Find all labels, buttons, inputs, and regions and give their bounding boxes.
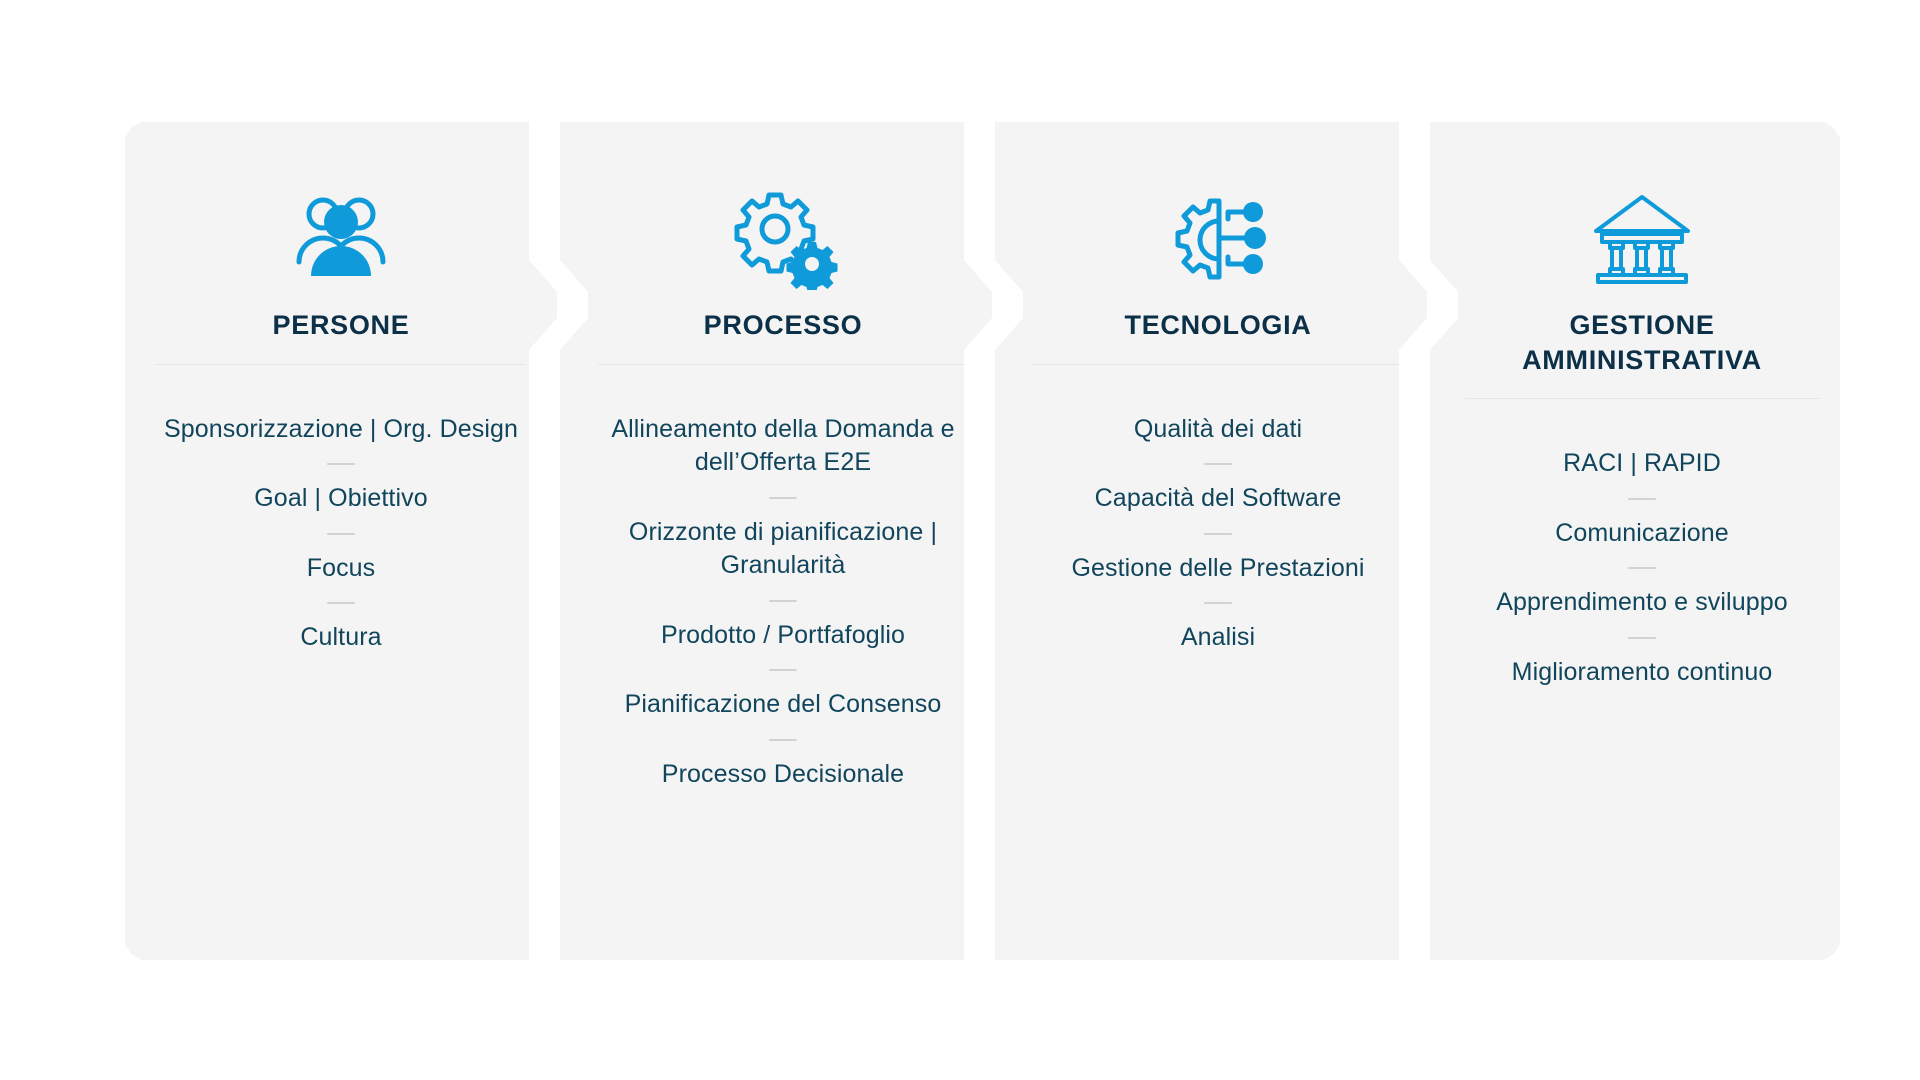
- infographic-canvas: PERSONE Sponsorizzazione | Org. Design G…: [0, 0, 1920, 1080]
- list-item: Orizzonte di pianificazione | Granularit…: [581, 516, 985, 583]
- list-item: Qualità dei dati: [1130, 413, 1306, 447]
- item-separator: [769, 600, 797, 602]
- item-separator: [327, 602, 355, 604]
- card-title: PROCESSO: [704, 308, 863, 343]
- pillar-card-gestione-amministrativa[interactable]: GESTIONE AMMINISTRATIVA RACI | RAPID Com…: [1430, 120, 1840, 962]
- item-separator: [1628, 567, 1656, 569]
- title-divider: [156, 364, 526, 365]
- pillar-card-persone[interactable]: PERSONE Sponsorizzazione | Org. Design G…: [125, 120, 557, 962]
- list-item: Allineamento della Domanda e dell’Offert…: [581, 413, 985, 480]
- list-item: Sponsorizzazione | Org. Design: [160, 413, 522, 447]
- item-list: RACI | RAPID Comunicazione Apprendimento…: [1451, 447, 1833, 689]
- list-item: Goal | Obiettivo: [250, 482, 431, 516]
- bank-building-icon: [1590, 182, 1694, 294]
- item-list: Qualità dei dati Capacità del Software G…: [1016, 413, 1420, 655]
- people-group-icon: [289, 182, 393, 294]
- card-title: PERSONE: [273, 308, 410, 343]
- pillar-cards-row: PERSONE Sponsorizzazione | Org. Design G…: [125, 120, 1825, 962]
- list-item: Prodotto / Portfafoglio: [657, 619, 909, 653]
- title-divider: [598, 364, 968, 365]
- item-separator: [327, 533, 355, 535]
- card-content: GESTIONE AMMINISTRATIVA RACI | RAPID Com…: [1437, 182, 1833, 689]
- gear-circuit-icon: [1166, 182, 1270, 294]
- card-content: TECNOLOGIA Qualità dei dati Capacità del…: [1002, 182, 1420, 655]
- item-separator: [1204, 533, 1232, 535]
- item-list: Allineamento della Domanda e dell’Offert…: [581, 413, 985, 792]
- card-title: GESTIONE AMMINISTRATIVA: [1451, 308, 1833, 377]
- gears-icon: [728, 182, 838, 294]
- item-separator: [1628, 637, 1656, 639]
- card-content: PROCESSO Allineamento della Domanda e de…: [567, 182, 985, 791]
- pillar-card-processo[interactable]: PROCESSO Allineamento della Domanda e de…: [560, 120, 992, 962]
- card-title: TECNOLOGIA: [1125, 308, 1312, 343]
- list-item: Miglioramento continuo: [1508, 656, 1777, 690]
- list-item: Capacità del Software: [1091, 482, 1346, 516]
- list-item: Analisi: [1177, 621, 1259, 655]
- item-list: Sponsorizzazione | Org. Design Goal | Ob…: [139, 413, 543, 655]
- list-item: Gestione delle Prestazioni: [1067, 552, 1368, 586]
- list-item: Apprendimento e sviluppo: [1492, 586, 1791, 620]
- list-item: Pianificazione del Consenso: [621, 688, 946, 722]
- card-content: PERSONE Sponsorizzazione | Org. Design G…: [139, 182, 543, 655]
- item-separator: [769, 497, 797, 499]
- list-item: Processo Decisionale: [658, 758, 908, 792]
- list-item: RACI | RAPID: [1559, 447, 1725, 481]
- title-divider: [1033, 364, 1403, 365]
- list-item: Cultura: [296, 621, 385, 655]
- list-item: Focus: [303, 552, 380, 586]
- item-separator: [769, 669, 797, 671]
- item-separator: [1204, 602, 1232, 604]
- item-separator: [1204, 463, 1232, 465]
- item-separator: [769, 739, 797, 741]
- item-separator: [1628, 498, 1656, 500]
- item-separator: [327, 463, 355, 465]
- pillar-card-tecnologia[interactable]: TECNOLOGIA Qualità dei dati Capacità del…: [995, 120, 1427, 962]
- title-divider: [1465, 398, 1820, 399]
- list-item: Comunicazione: [1551, 517, 1733, 551]
